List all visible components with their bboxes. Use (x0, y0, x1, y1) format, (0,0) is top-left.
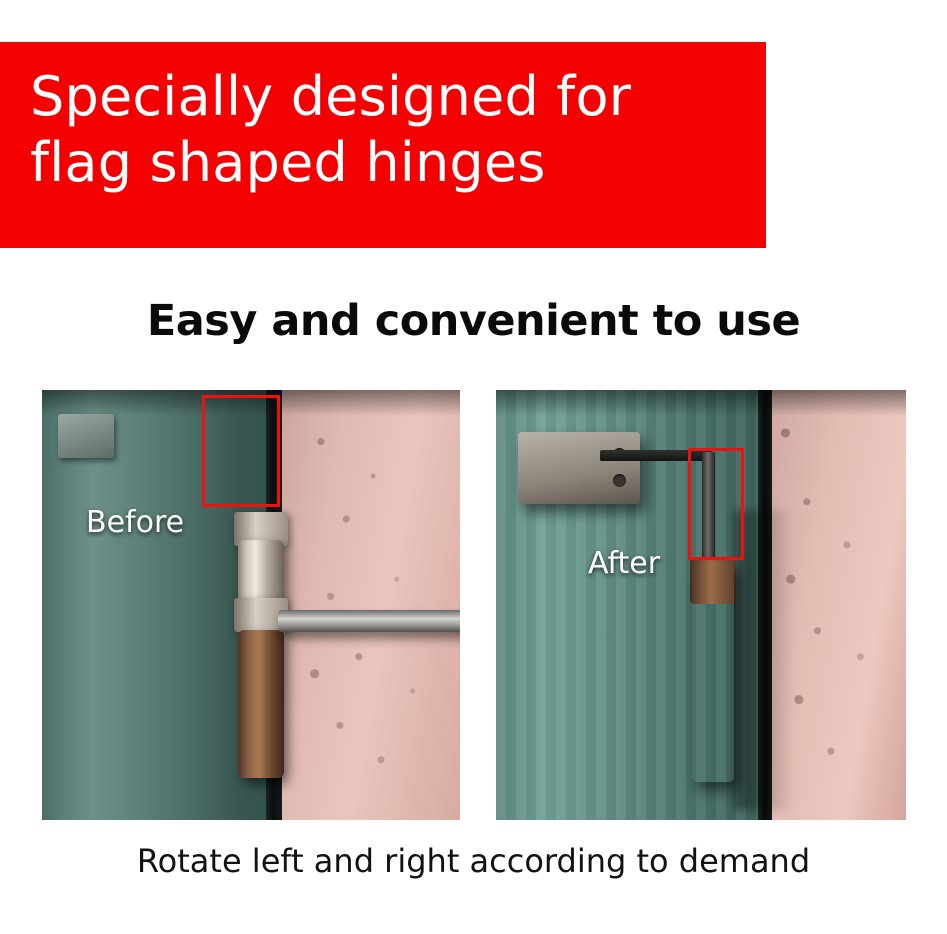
after-highlight-box (688, 448, 744, 560)
before-highlight-box (202, 395, 280, 507)
corner-bracket (58, 414, 114, 458)
plaster-wall (282, 390, 460, 820)
promo-banner: Specially designed for flag shaped hinge… (0, 42, 766, 248)
top-shadow (496, 390, 906, 416)
comparison-photo-row: Before After (0, 390, 947, 820)
bracket-hole-bottom (613, 474, 626, 487)
hinge-barrel (692, 562, 734, 782)
hinge-barrel-upper (238, 540, 284, 606)
before-photo: Before (42, 390, 460, 820)
after-photo: After (496, 390, 906, 820)
page-title: Easy and convenient to use (0, 296, 947, 346)
promo-banner-line-1: Specially designed for (30, 64, 766, 130)
caption-text: Rotate left and right according to deman… (0, 842, 947, 880)
hinge-barrel-lower (238, 630, 284, 778)
steel-rod (278, 610, 460, 632)
promo-banner-line-2: flag shaped hinges (30, 130, 766, 196)
before-label: Before (86, 505, 184, 540)
after-label: After (588, 546, 660, 581)
hinge-bracket (518, 432, 640, 504)
